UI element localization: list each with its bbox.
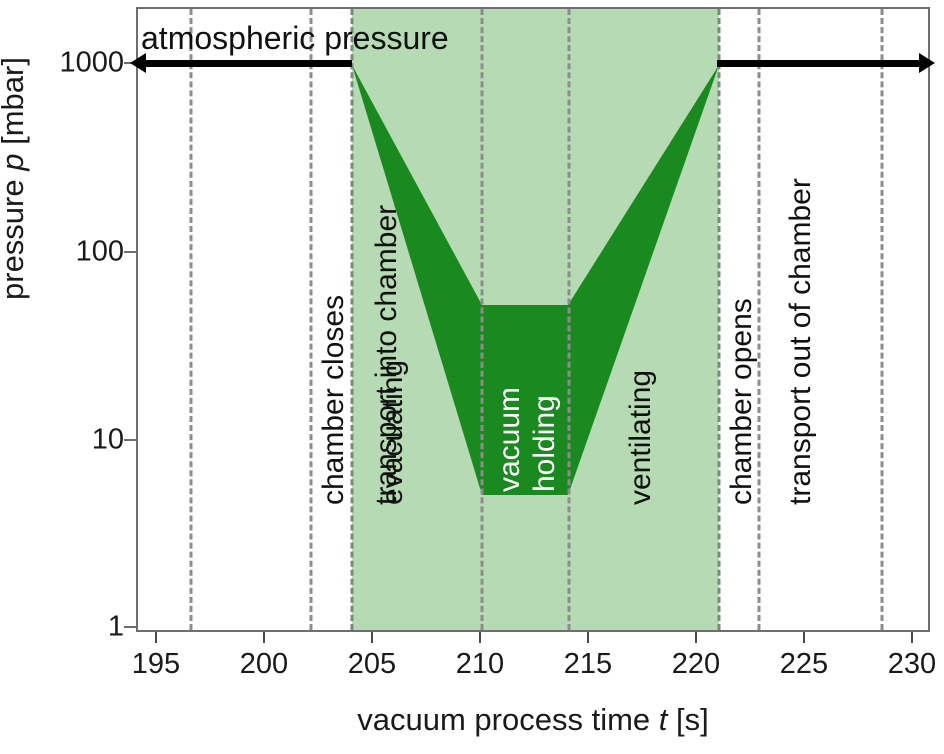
y-tick-mark-10 — [124, 439, 136, 441]
y-tick-mark-100 — [124, 251, 136, 253]
plot-area: transport into chamber chamber closes ev… — [136, 7, 930, 632]
y-tick-mark-1 — [124, 626, 136, 628]
x-tick-mark-225 — [803, 632, 805, 643]
event-line-vacuum-holding-start — [481, 9, 484, 630]
x-axis-title: vacuum process time t [s] — [136, 702, 930, 738]
label-vacuum-holding-line1: vacuum — [493, 387, 527, 492]
atmospheric-arrow-right — [919, 53, 935, 73]
x-tick-label-210: 210 — [456, 648, 504, 681]
label-transport-out-of-chamber: transport out of chamber — [784, 178, 818, 505]
label-evacuating: evacuating — [376, 360, 410, 505]
label-ventilating: ventilating — [624, 370, 658, 505]
label-vacuum-holding-line2: holding — [528, 395, 562, 492]
vacuum-process-chart: pressure p [mbar] 1000 100 10 1 195 200 … — [0, 0, 944, 754]
x-tick-mark-215 — [587, 632, 589, 643]
y-tick-label-100: 100 — [76, 236, 124, 269]
label-chamber-opens: chamber opens — [725, 298, 759, 505]
atmospheric-line-right — [717, 60, 919, 67]
x-tick-mark-230 — [911, 632, 913, 643]
y-tick-label-1: 1 — [108, 611, 124, 644]
x-tick-mark-220 — [695, 632, 697, 643]
x-tick-mark-210 — [479, 632, 481, 643]
x-tick-label-195: 195 — [132, 648, 180, 681]
x-tick-label-230: 230 — [888, 648, 936, 681]
event-line-ventilating-start — [568, 9, 571, 630]
y-axis-title: pressure p [mbar] — [0, 0, 31, 300]
x-tick-mark-200 — [263, 632, 265, 643]
y-tick-label-10: 10 — [92, 424, 124, 457]
y-tick-label-1000: 1000 — [59, 47, 124, 80]
x-tick-label-200: 200 — [240, 648, 288, 681]
x-tick-label-205: 205 — [348, 648, 396, 681]
label-atmospheric-pressure: atmospheric pressure — [141, 20, 449, 57]
x-tick-mark-205 — [371, 632, 373, 643]
x-tick-label-215: 215 — [564, 648, 612, 681]
x-tick-mark-195 — [155, 632, 157, 643]
x-tick-label-225: 225 — [780, 648, 828, 681]
event-line-chamber-closes — [310, 9, 313, 630]
atmospheric-line-left — [146, 60, 352, 67]
label-chamber-closes: chamber closes — [317, 295, 351, 505]
event-line-end — [881, 9, 884, 630]
x-tick-label-220: 220 — [672, 648, 720, 681]
event-line-transport-in — [190, 9, 193, 630]
event-line-chamber-opens — [718, 9, 721, 630]
